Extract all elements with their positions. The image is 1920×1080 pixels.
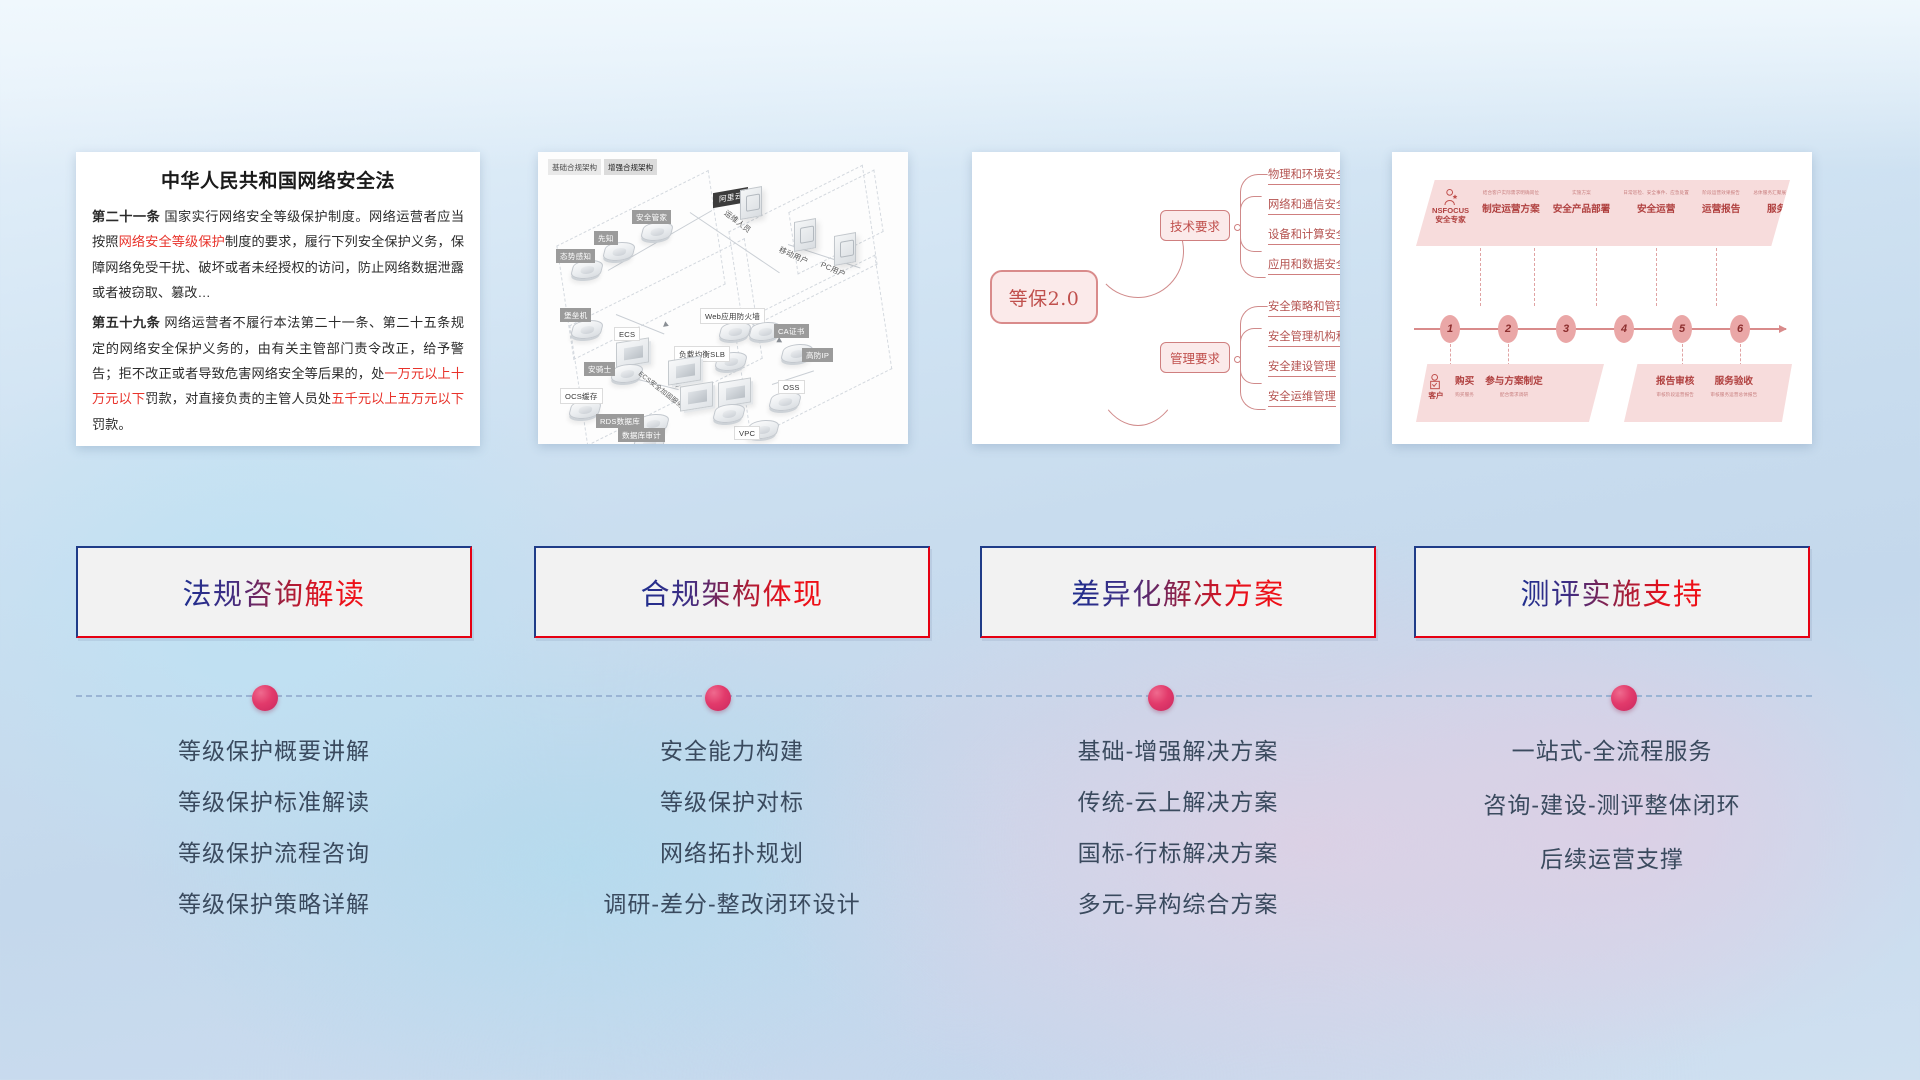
connector-knob-3[interactable] xyxy=(1148,685,1174,711)
bullet-item: 一站式-全流程服务 xyxy=(1414,740,1810,763)
step-title: 报告审核 xyxy=(1656,373,1694,387)
bullet-item: 安全能力构建 xyxy=(534,740,930,763)
timeline-node-1[interactable]: 1 xyxy=(1440,315,1460,343)
law-article-number-21: 第二十一条 xyxy=(92,209,160,224)
section-title-text: 合规架构体现 xyxy=(640,571,823,613)
timeline-bottom-step: 报告审核 审核阶段运营报告 xyxy=(1656,373,1694,398)
node-waf xyxy=(720,322,750,341)
law-article-number-59: 第五十九条 xyxy=(92,315,160,330)
step-title: 制定运营方案 xyxy=(1482,201,1540,215)
node-label-anti-ddos-ip: 高防IP xyxy=(802,348,833,362)
mindmap-branch-management: 管理要求 xyxy=(1160,342,1230,373)
card-djcp-mindmap[interactable]: 等保2.0 技术要求 物理和环境安全 网络和通信安全 设备和计算安全 应用和数据… xyxy=(972,152,1340,444)
timeline-bottom-right-band: 报告审核 审核阶段运营报告 服务验收 审核服务运营总体报告 xyxy=(1624,364,1792,422)
node-label-security-butler: 安全管家 xyxy=(632,210,671,224)
bullet-item: 等级保护对标 xyxy=(534,791,930,814)
step-title: 服务验收 xyxy=(1715,373,1753,387)
bullet-item: 等级保护策略详解 xyxy=(76,893,472,916)
law-paragraph-21: 第二十一条 国家实行网络安全等级保护制度。网络运营者应当按照网络安全等级保护制度… xyxy=(92,204,464,305)
bullet-item: 等级保护标准解读 xyxy=(76,791,472,814)
connector-knob-1[interactable] xyxy=(252,685,278,711)
timeline-node-6[interactable]: 6 xyxy=(1730,315,1750,343)
step-title: 参与方案制定 xyxy=(1485,373,1543,387)
node-label-rds-database: RDS数据库 xyxy=(596,414,644,428)
bullet-item: 等级保护概要讲解 xyxy=(76,740,472,763)
node-compute-cluster xyxy=(714,404,744,423)
mindmap-connector xyxy=(1240,196,1262,228)
bullet-item: 网络拓扑规划 xyxy=(534,842,930,865)
step-subtitle: 配合需求调研 xyxy=(1500,392,1528,398)
timeline-connector xyxy=(76,695,1812,697)
section-bullets-1: 等级保护概要讲解 等级保护标准解读 等级保护流程咨询 等级保护策略详解 xyxy=(76,740,472,944)
bullet-item: 基础-增强解决方案 xyxy=(980,740,1376,763)
bullet-item: 等级保护流程咨询 xyxy=(76,842,472,865)
node-label-db-audit: 数据库审计 xyxy=(618,428,665,442)
bullet-item: 传统-云上解决方案 xyxy=(980,791,1376,814)
law-seg-highlight: 网络安全等级保护 xyxy=(119,234,225,249)
nsfocus-logo: NSFOCUS安全专家 xyxy=(1432,206,1469,225)
section-title-box-2[interactable]: 合规架构体现 xyxy=(534,546,930,638)
card-compliance-architecture[interactable]: 基础合规架构 增强合规架构 阿里云 态势感知 xyxy=(538,152,908,444)
connector-knob-4[interactable] xyxy=(1611,685,1637,711)
mindmap-leaf: 安全建设管理 xyxy=(1268,358,1336,377)
section-title-row: 法规咨询解读 合规架构体现 差异化解决方案 测评实施支持 xyxy=(0,546,1920,642)
law-document: 中华人民共和国网络安全法 第二十一条 国家实行网络安全等级保护制度。网络运营者应… xyxy=(76,152,480,446)
timeline-bottom-left-band: 客户 购买 购买服务 参与方案制定 配合需求调研 xyxy=(1416,364,1604,422)
dashed-drop xyxy=(1596,248,1597,306)
bullet-item: 国标-行标解决方案 xyxy=(980,842,1376,865)
node-label-ocs-cache: OCS缓存 xyxy=(560,388,603,404)
section-title-text: 差异化解决方案 xyxy=(1071,571,1285,613)
timeline-top-step: 结合客户实际需求明确岗位 制定运营方案 xyxy=(1482,190,1540,215)
architecture-diagram: 基础合规架构 增强合规架构 阿里云 态势感知 xyxy=(538,152,908,444)
mindmap-connector xyxy=(1240,358,1266,410)
step-subtitle: 实施方案 xyxy=(1572,190,1591,196)
node-label-bastion-host: 堡垒机 xyxy=(560,308,591,322)
bullet-item: 后续运营支撑 xyxy=(1414,848,1810,871)
law-paragraph-59: 第五十九条 网络运营者不履行本法第二十一条、第二十五条规定的网络安全保护义务的，… xyxy=(92,310,464,437)
law-seg: 罚款。 xyxy=(92,417,132,432)
node-label-ecs: ECS xyxy=(614,327,640,341)
dashed-drop xyxy=(1534,248,1535,306)
section-bullets-3: 基础-增强解决方案 传统-云上解决方案 国标-行标解决方案 多元-异构综合方案 xyxy=(980,740,1376,944)
customer-person-icon xyxy=(1428,373,1444,391)
law-title: 中华人民共和国网络安全法 xyxy=(92,166,464,193)
step-title: 安全产品部署 xyxy=(1553,201,1611,215)
tab-enhanced-architecture[interactable]: 增强合规架构 xyxy=(604,159,657,175)
step-subtitle: 总体服务汇聚展示总体运营效果 xyxy=(1753,190,1812,196)
tab-basic-architecture[interactable]: 基础合规架构 xyxy=(548,159,601,175)
mindmap-root: 等保2.0 xyxy=(990,270,1098,324)
node-compute-cluster xyxy=(718,380,751,405)
step-title: 服务报告 xyxy=(1767,201,1805,215)
timeline-bottom-step: 购买 购买服务 xyxy=(1455,373,1474,398)
node-label-oss: OSS xyxy=(778,380,805,394)
card-cybersecurity-law[interactable]: 中华人民共和国网络安全法 第二十一条 国家实行网络安全等级保护制度。网络运营者应… xyxy=(76,152,480,446)
section-bullets-4: 一站式-全流程服务 咨询-建设-测评整体闭环 后续运营支撑 xyxy=(1414,740,1810,899)
timeline-bottom-step: 服务验收 审核服务运营总体报告 xyxy=(1710,373,1757,398)
dashed-drop xyxy=(1740,344,1741,366)
node-pc-user xyxy=(834,234,856,264)
mindmap-leaf: 安全运维管理 xyxy=(1268,388,1336,407)
node-label-situational-awareness: 态势感知 xyxy=(556,249,595,263)
expert-person-icon xyxy=(1443,188,1459,206)
bullet-item: 多元-异构综合方案 xyxy=(980,893,1376,916)
step-subtitle: 购买服务 xyxy=(1455,392,1474,398)
node-label-ca-cert: CA证书 xyxy=(774,324,809,338)
node-bastion-host xyxy=(572,320,602,339)
dashed-drop xyxy=(1656,248,1657,306)
timeline-top-band: NSFOCUS安全专家 结合客户实际需求明确岗位 制定运营方案 实施方案 安全产… xyxy=(1416,180,1790,246)
section-title-text: 法规咨询解读 xyxy=(182,571,365,613)
timeline-node-4[interactable]: 4 xyxy=(1614,315,1634,343)
mindmap-leaf: 安全管理机构和人员 xyxy=(1268,328,1340,347)
background-glow-top xyxy=(0,0,1920,170)
bullet-item: 调研-差分-整改闭环设计 xyxy=(534,893,930,916)
timeline-top-step: 日常巡检、安全事件、应急处置 安全运营 xyxy=(1623,190,1689,215)
step-title: 安全运营 xyxy=(1637,201,1675,215)
step-subtitle: 审核服务运营总体报告 xyxy=(1710,392,1757,398)
timeline-node-5[interactable]: 5 xyxy=(1672,315,1692,343)
mindmap-leaf: 应用和数据安全 xyxy=(1268,256,1340,275)
step-subtitle: 结合客户实际需求明确岗位 xyxy=(1483,190,1539,196)
node-compute-cluster xyxy=(680,384,713,409)
mindmap-connector xyxy=(1240,328,1262,360)
law-seg-highlight: 五千元以上五万元以下 xyxy=(331,391,464,406)
card-nsfocus-service-timeline[interactable]: NSFOCUS安全专家 结合客户实际需求明确岗位 制定运营方案 实施方案 安全产… xyxy=(1392,152,1812,444)
node-ops-staff xyxy=(740,188,762,218)
node-compute-cluster xyxy=(668,358,701,383)
section-title-box-3[interactable]: 差异化解决方案 xyxy=(980,546,1376,638)
dashed-drop xyxy=(1682,344,1683,366)
timeline-top-step: 总体服务汇聚展示总体运营效果 服务报告 xyxy=(1753,190,1812,215)
dashed-drop xyxy=(1450,344,1451,366)
timeline-bottom-step: 参与方案制定 配合需求调研 xyxy=(1485,373,1543,398)
timeline-top-step: 阶段运营效果报告 运营报告 xyxy=(1702,190,1740,215)
node-oss xyxy=(770,392,800,411)
timeline-node-2[interactable]: 2 xyxy=(1498,315,1518,343)
customer-label: 客户 xyxy=(1428,391,1443,400)
node-mobile-user xyxy=(794,220,816,250)
section-title-box-4[interactable]: 测评实施支持 xyxy=(1414,546,1810,638)
section-title-box-1[interactable]: 法规咨询解读 xyxy=(76,546,472,638)
timeline-top-step: 实施方案 安全产品部署 xyxy=(1553,190,1611,215)
step-subtitle: 日常巡检、安全事件、应急处置 xyxy=(1623,190,1689,196)
mindmap-branch-technical: 技术要求 xyxy=(1160,210,1230,241)
connector-knob-2[interactable] xyxy=(705,685,731,711)
node-label-xianzhi: 先知 xyxy=(594,231,618,245)
node-label-vpc: VPC xyxy=(734,426,760,440)
step-title: 运营报告 xyxy=(1702,201,1740,215)
mindmap-leaf: 网络和通信安全 xyxy=(1268,196,1340,215)
dashed-drop xyxy=(1508,344,1509,366)
mindmap-leaf: 物理和环境安全 xyxy=(1268,166,1340,185)
bullet-item: 咨询-建设-测评整体闭环 xyxy=(1414,794,1810,817)
step-subtitle: 审核阶段运营报告 xyxy=(1656,392,1694,398)
step-subtitle: 阶段运营效果报告 xyxy=(1702,190,1740,196)
law-seg: 罚款，对直接负责的主管人员处 xyxy=(145,391,331,406)
dashed-drop xyxy=(1480,248,1481,306)
architecture-tabs[interactable]: 基础合规架构 增强合规架构 xyxy=(548,159,657,175)
step-title: 购买 xyxy=(1455,373,1474,387)
mindmap: 等保2.0 技术要求 物理和环境安全 网络和通信安全 设备和计算安全 应用和数据… xyxy=(972,152,1340,444)
section-bullets-2: 安全能力构建 等级保护对标 网络拓扑规划 调研-差分-整改闭环设计 xyxy=(534,740,930,944)
timeline-node-3[interactable]: 3 xyxy=(1556,315,1576,343)
node-label-anqishi: 安骑士 xyxy=(584,362,615,376)
dashed-drop xyxy=(1716,248,1717,306)
mindmap-leaf: 安全策略和管理制度 xyxy=(1268,298,1340,317)
section-bullets-row: 等级保护概要讲解 等级保护标准解读 等级保护流程咨询 等级保护策略详解 安全能力… xyxy=(0,740,1920,970)
service-timeline: NSFOCUS安全专家 结合客户实际需求明确岗位 制定运营方案 实施方案 安全产… xyxy=(1392,152,1812,444)
mindmap-connector xyxy=(1240,226,1266,278)
preview-cards-row: 中华人民共和国网络安全法 第二十一条 国家实行网络安全等级保护制度。网络运营者应… xyxy=(0,152,1920,452)
mindmap-leaf: 设备和计算安全 xyxy=(1268,226,1340,245)
section-title-text: 测评实施支持 xyxy=(1520,571,1703,613)
node-security-butler xyxy=(642,222,672,241)
node-ecs xyxy=(616,340,649,365)
